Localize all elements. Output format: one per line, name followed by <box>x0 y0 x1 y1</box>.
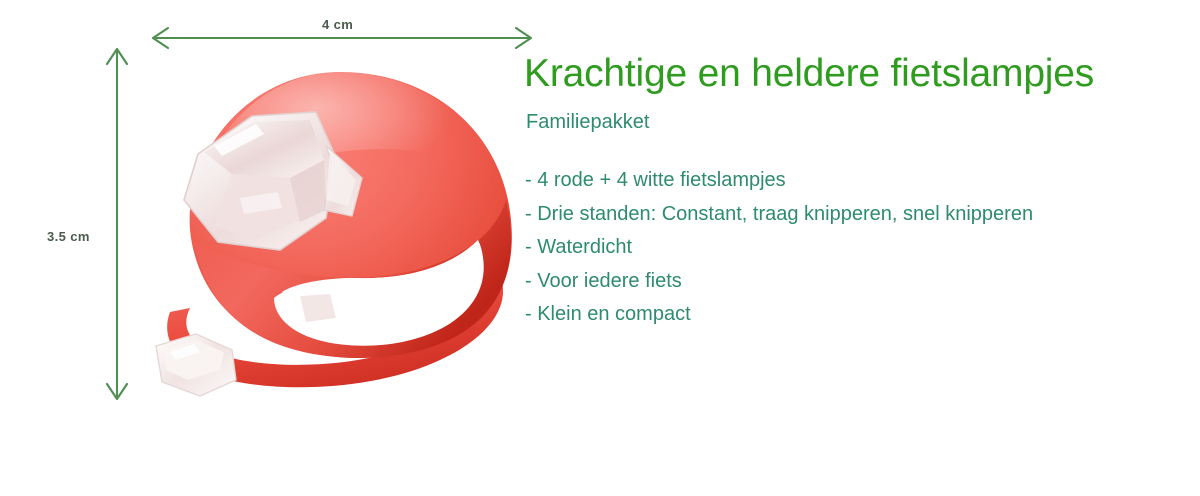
feature-list: - 4 rode + 4 witte fietslampjes - Drie s… <box>525 164 1196 332</box>
list-item: - Drie standen: Constant, traag knippere… <box>525 198 1196 232</box>
list-item: - Waterdicht <box>525 231 1196 265</box>
product-copy: Krachtige en heldere fietslampjes Famili… <box>524 52 1196 332</box>
list-item: - Voor iedere fiets <box>525 265 1196 299</box>
list-item: - 4 rode + 4 witte fietslampjes <box>525 164 1196 198</box>
product-image <box>140 50 540 420</box>
height-dimension-label: 3.5 cm <box>47 229 90 244</box>
bike-light-illustration <box>140 50 540 420</box>
list-item: - Klein en compact <box>525 298 1196 332</box>
width-dimension-label: 4 cm <box>322 17 353 32</box>
product-banner: 4 cm 3.5 cm Krachtige en heldere fietsla… <box>0 0 1200 491</box>
lens-clip <box>156 334 236 396</box>
height-arrow <box>107 49 127 399</box>
width-arrow <box>153 28 531 48</box>
product-subheadline: Familiepakket <box>526 110 1196 134</box>
lens-stub <box>300 294 336 322</box>
product-headline: Krachtige en heldere fietslampjes <box>524 52 1196 96</box>
